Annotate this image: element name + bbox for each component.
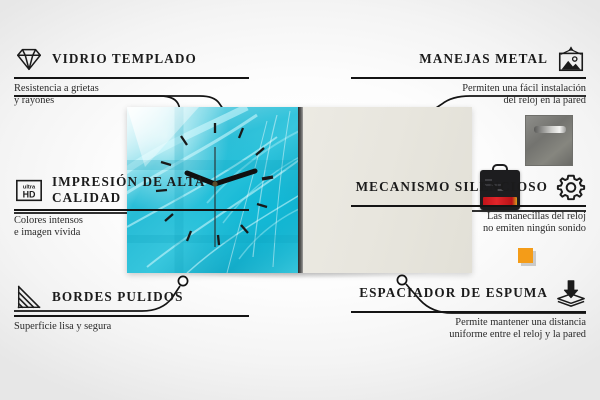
feature-description: Resistencia a grietas y rayones [14, 83, 249, 108]
feature-title: MECANISMO SILENCIOSO [356, 179, 548, 195]
feature-header: BORDES PULIDOS [14, 282, 249, 312]
feature-title: VIDRIO TEMPLADO [52, 51, 197, 67]
feature-description: Colores intensos e imagen vívida [14, 215, 249, 240]
feature-rule [351, 205, 586, 207]
feature-description: Superficie lisa y segura [14, 321, 249, 334]
feature-rule [14, 315, 249, 317]
feature-bordes-pulidos: BORDES PULIDOS Superficie lisa y segura [14, 282, 249, 333]
ultra-hd-icon: ultra HD [14, 175, 44, 205]
infographic-canvas: VIDRIO TEMPLADO Resistencia a grietas y … [0, 0, 600, 400]
feature-rule [351, 311, 586, 313]
feature-header: ESPACIADOR DE ESPUMA [351, 278, 586, 308]
foam-spacer [518, 248, 533, 263]
metal-hanger-plate [525, 115, 573, 166]
hanging-picture-icon [556, 44, 586, 74]
feature-description: Permite mantener una distancia uniforme … [351, 317, 586, 342]
feature-mecanismo-silencioso: MECANISMO SILENCIOSO Las manecillas del … [351, 172, 586, 236]
feature-espaciador-espuma: ESPACIADOR DE ESPUMA Permite mantener un… [351, 278, 586, 342]
feature-vidrio-templado: VIDRIO TEMPLADO Resistencia a grietas y … [14, 44, 249, 108]
polished-edge-icon [14, 282, 44, 312]
gear-icon [556, 172, 586, 202]
feature-title: ESPACIADOR DE ESPUMA [359, 285, 548, 301]
feature-impresion-alta-calidad: ultra HD IMPRESIÓN DE ALTA CALIDAD Color… [14, 174, 249, 240]
feature-title: MANEJAS METAL [419, 51, 548, 67]
feature-rule [351, 77, 586, 79]
feature-description: Las manecillas del reloj no emiten ningú… [351, 211, 586, 236]
down-arrow-pad-icon [556, 278, 586, 308]
feature-header: MANEJAS METAL [351, 44, 586, 74]
feature-rule [14, 209, 249, 211]
svg-text:HD: HD [23, 190, 36, 200]
feature-title: BORDES PULIDOS [52, 289, 184, 305]
feature-description: Permiten una fácil instalación del reloj… [351, 83, 586, 108]
feature-header: MECANISMO SILENCIOSO [351, 172, 586, 202]
hanger-slot [534, 126, 566, 133]
diamond-icon [14, 44, 44, 74]
feature-manejas-metal: MANEJAS METAL Permiten una fácil instala… [351, 44, 586, 108]
feature-title: IMPRESIÓN DE ALTA CALIDAD [52, 174, 249, 206]
feature-header: ultra HD IMPRESIÓN DE ALTA CALIDAD [14, 174, 249, 206]
feature-rule [14, 77, 249, 79]
feature-header: VIDRIO TEMPLADO [14, 44, 249, 74]
